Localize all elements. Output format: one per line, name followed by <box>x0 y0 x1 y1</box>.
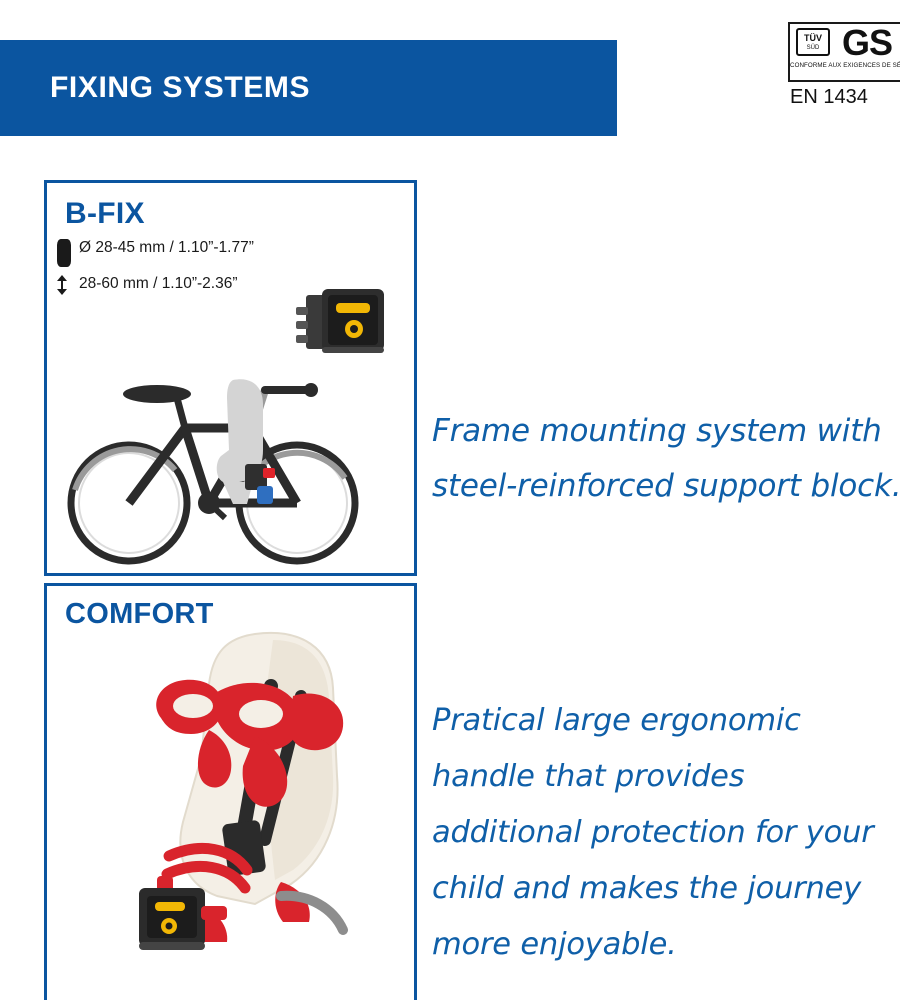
certification-mark: TÜV SÜD GS CONFORME AUX EXIGENCES DE SÉ … <box>780 22 900 132</box>
page-title: FIXING SYSTEMS <box>0 71 310 105</box>
tuv-icon: TÜV SÜD <box>796 28 830 56</box>
gs-mark-label: GS <box>842 24 892 62</box>
panel-b-fix-title: B-FIX <box>47 183 414 231</box>
tuv-label: TÜV <box>804 33 822 43</box>
panel-b-fix: B-FIX Ø 28-45 mm / 1.10”-1.77” 28-60 mm … <box>44 180 417 576</box>
spec-diameter: Ø 28-45 mm / 1.10”-1.77” <box>79 239 254 257</box>
description-b-fix: Frame mounting system with steel-reinfor… <box>432 404 900 514</box>
vertical-arrow-icon <box>56 275 68 295</box>
panel-comfort-title: COMFORT <box>47 586 414 631</box>
panel-comfort: COMFORT <box>44 583 417 1000</box>
child-bike-seat-with-red-handle-illustration <box>105 626 385 956</box>
description-comfort: Pratical large ergonomic handle that pro… <box>432 693 900 973</box>
black-bracket-clamp-illustration <box>292 287 412 367</box>
cylinder-icon <box>57 239 71 267</box>
certification-fine-print: CONFORME AUX EXIGENCES DE SÉ <box>790 62 900 69</box>
certification-standard: EN 1434 <box>790 86 868 109</box>
page-root: FIXING SYSTEMS TÜV SÜD GS CONFORME AUX E… <box>0 0 900 1000</box>
bicycle-with-child-seat-illustration <box>57 358 397 568</box>
header-bar: FIXING SYSTEMS <box>0 40 617 136</box>
tuv-sub-label: SÜD <box>798 43 828 53</box>
spec-length: 28-60 mm / 1.10”-2.36” <box>79 275 238 293</box>
